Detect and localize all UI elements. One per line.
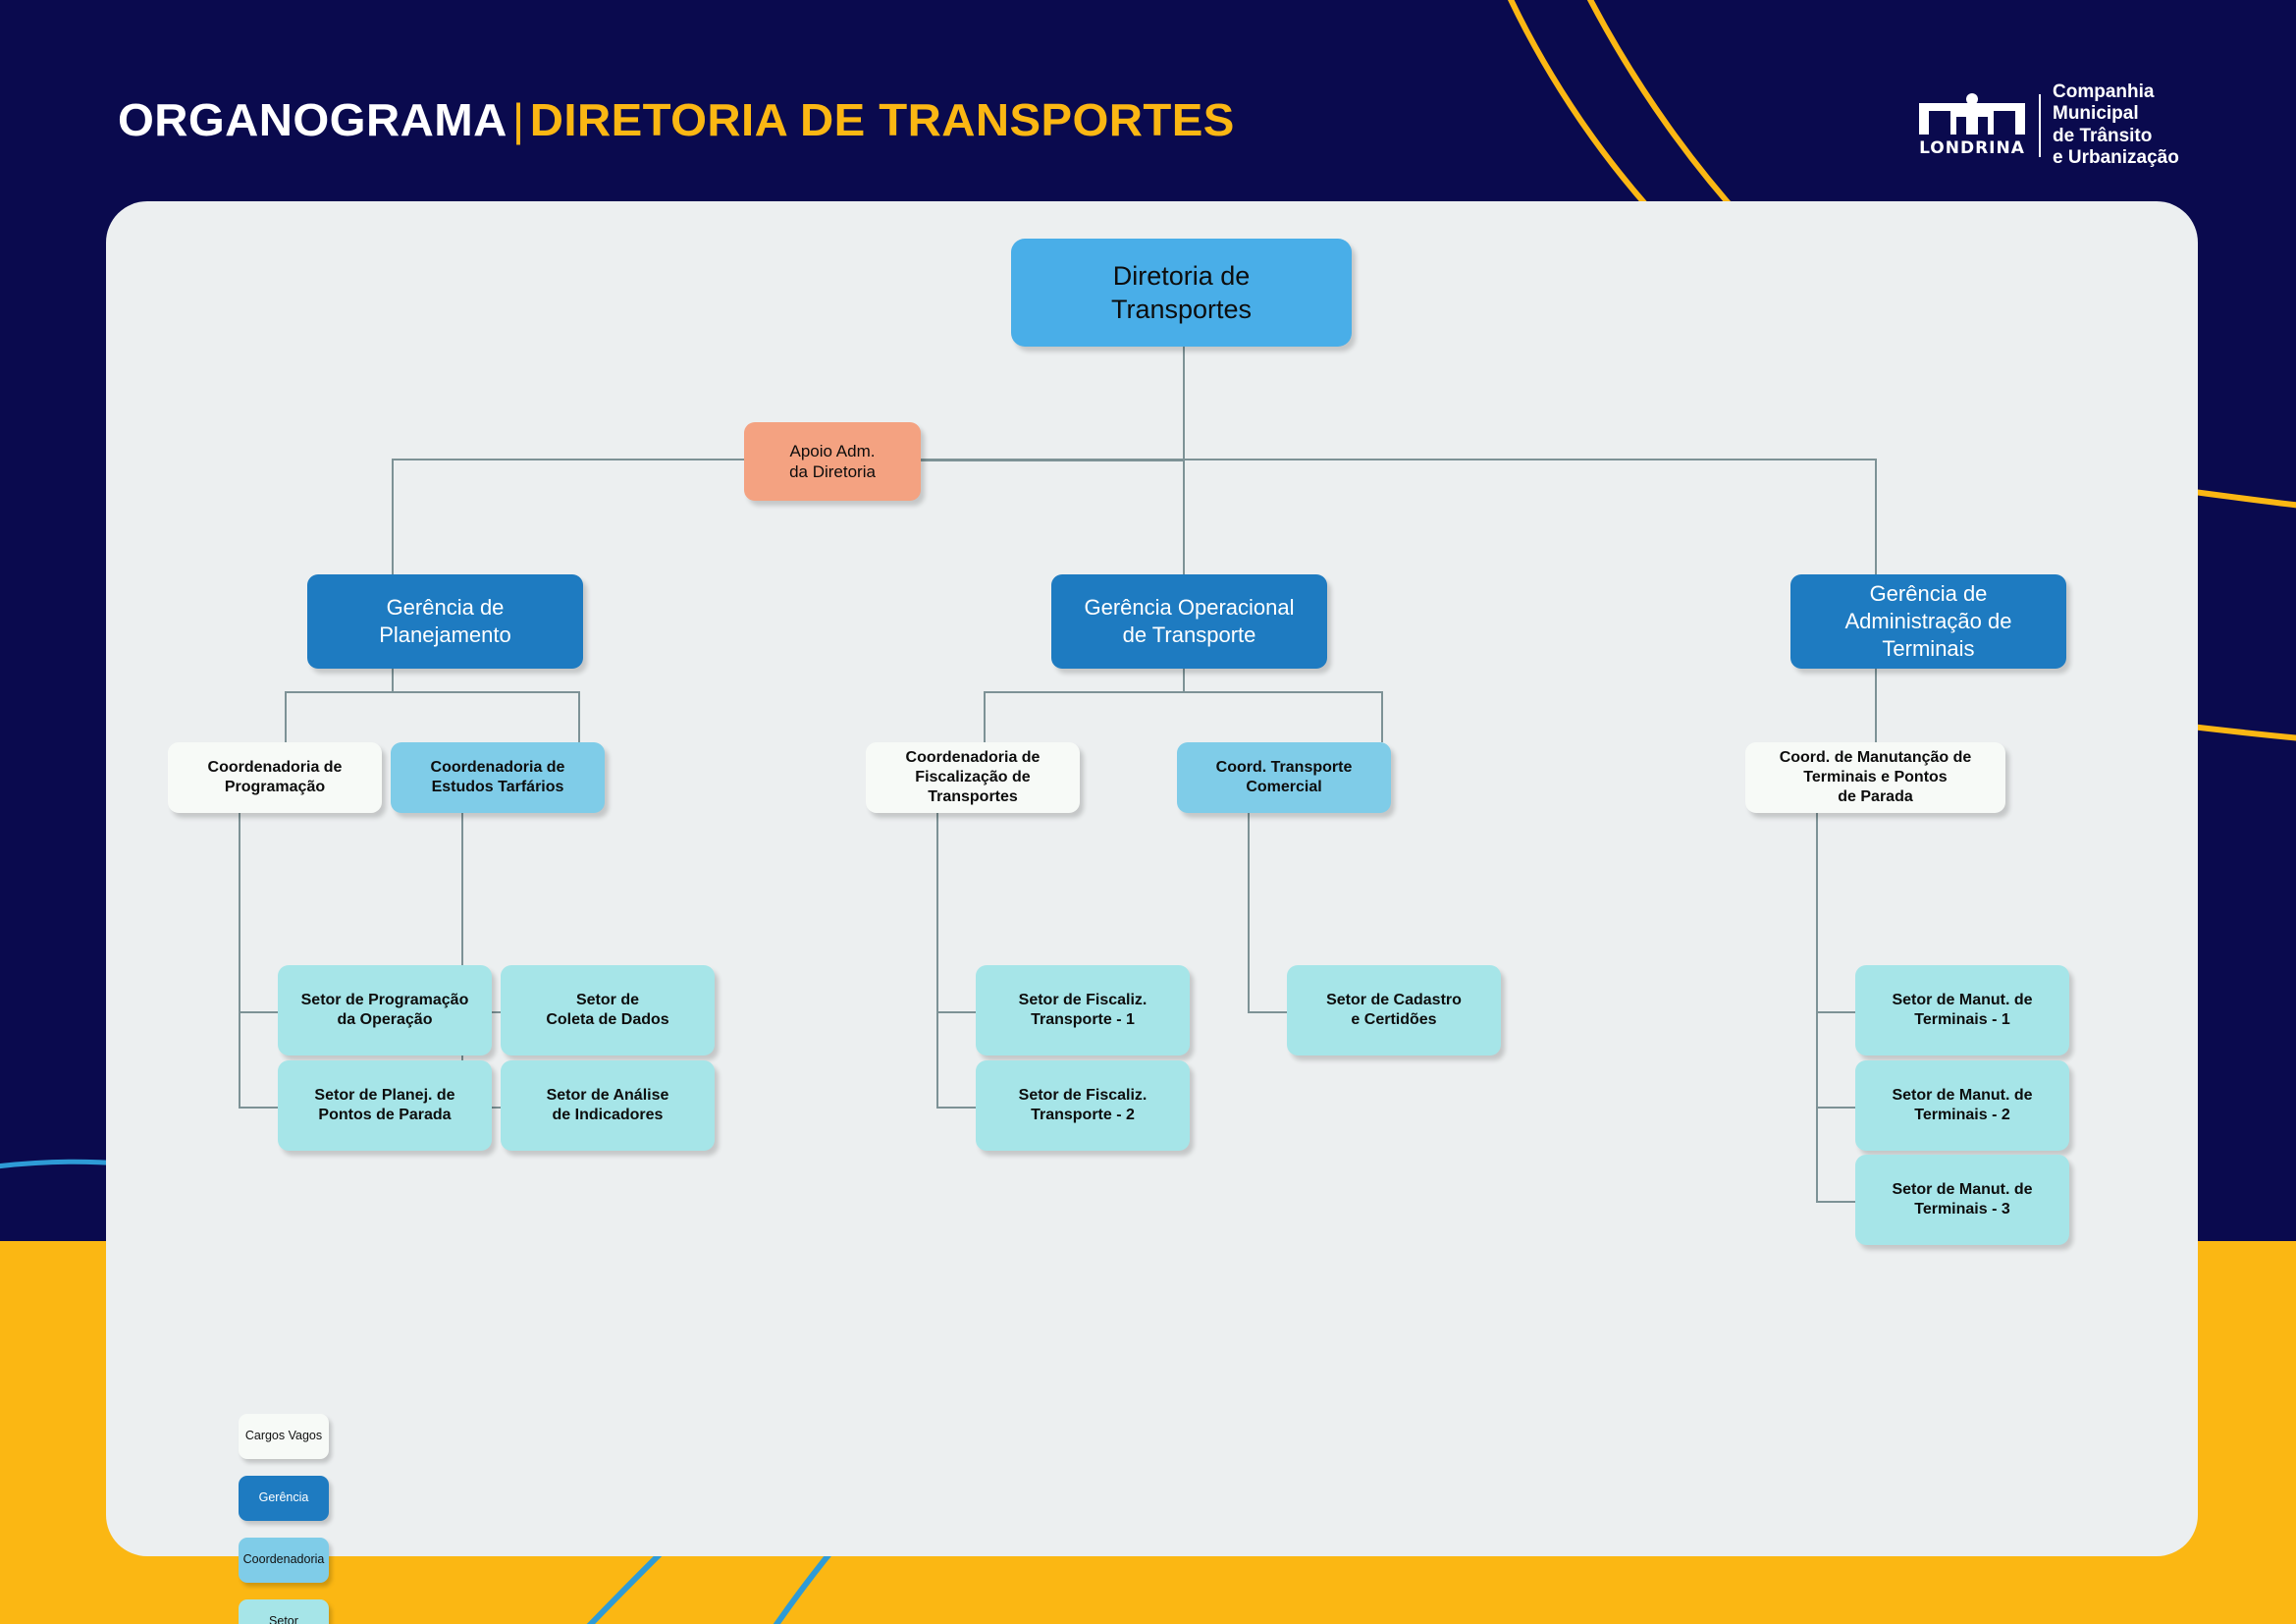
page-header: ORGANOGRAMA|DIRETORIA DE TRANSPORTES LON… xyxy=(0,0,2296,196)
logo-symbol: LONDRINA xyxy=(1917,93,2027,158)
node-s9-line-2: Terminais - 2 xyxy=(1914,1107,2010,1123)
node-setor-de-programacao-da-operacao[interactable]: Setor de Programação da Operação xyxy=(278,965,492,1056)
connector-c5-s9 xyxy=(1816,1107,1855,1109)
logo-company-name: Companhia Municipal de Trânsito e Urbani… xyxy=(2053,81,2179,170)
title-main: ORGANOGRAMA xyxy=(118,94,507,145)
title-separator: | xyxy=(507,94,530,145)
node-s5-line-2: Transporte - 1 xyxy=(1031,1011,1135,1028)
connector-c1-s2 xyxy=(239,1107,278,1109)
node-c5-line-2: Terminais e Pontos xyxy=(1803,769,1947,785)
node-s10-line-2: Terminais - 3 xyxy=(1914,1201,2010,1218)
node-c3-line-1: Coordenadoria de xyxy=(906,749,1041,766)
cmtu-logo: LONDRINA Companhia Municipal de Trânsito… xyxy=(1917,81,2179,170)
node-coordenadoria-de-estudos-tarfarios[interactable]: Coordenadoria de Estudos Tarfários xyxy=(391,742,605,813)
connector-c5-s8 xyxy=(1816,1011,1855,1013)
logo-line-1: Companhia xyxy=(2053,81,2179,103)
node-coordenadoria-de-fiscalizacao-de-transportes[interactable]: Coordenadoria de Fiscalização de Transpo… xyxy=(866,742,1080,813)
org-chart-panel: Diretoria de Transportes Apoio Adm. da D… xyxy=(106,201,2198,1556)
node-s8-line-1: Setor de Manut. de xyxy=(1892,992,2032,1008)
node-s6-line-2: Transporte - 2 xyxy=(1031,1107,1135,1123)
connector-c5-stem xyxy=(1816,799,1818,1203)
node-s2-line-1: Setor de Planej. de xyxy=(314,1087,454,1104)
node-g2-line-2: de Transporte xyxy=(1123,623,1256,647)
node-g2-line-1: Gerência Operacional xyxy=(1084,595,1294,620)
connector-g2-bus xyxy=(984,691,1382,693)
connector-g1-bus xyxy=(285,691,579,693)
node-setor-de-analise-de-indicadores[interactable]: Setor de Análise de Indicadores xyxy=(501,1060,715,1151)
node-setor-de-cadastro-e-certidoes[interactable]: Setor de Cadastro e Certidões xyxy=(1287,965,1501,1056)
connector-c1-s1 xyxy=(239,1011,278,1013)
logo-divider xyxy=(2039,94,2041,157)
node-s5-line-1: Setor de Fiscaliz. xyxy=(1019,992,1148,1008)
node-apoio-adm-da-diretoria[interactable]: Apoio Adm. da Diretoria xyxy=(744,422,921,501)
node-setor-de-fiscaliz-transporte-1[interactable]: Setor de Fiscaliz. Transporte - 1 xyxy=(976,965,1190,1056)
legend-label-gerencia: Gerência xyxy=(259,1491,309,1505)
node-s9-line-1: Setor de Manut. de xyxy=(1892,1087,2032,1104)
connector-gerencia-bus xyxy=(392,459,1877,460)
legend-item-gerencia[interactable]: Gerência xyxy=(239,1476,329,1521)
node-s2-line-2: Pontos de Parada xyxy=(318,1107,451,1123)
logo-line-2: Municipal xyxy=(2053,103,2179,125)
londrina-emblem-icon xyxy=(1917,93,2027,136)
node-gerencia-de-planejamento[interactable]: Gerência de Planejamento xyxy=(307,574,583,669)
node-setor-de-manut-de-terminais-3[interactable]: Setor de Manut. de Terminais - 3 xyxy=(1855,1155,2069,1245)
node-c2-line-2: Estudos Tarfários xyxy=(432,779,564,795)
node-setor-de-manut-de-terminais-1[interactable]: Setor de Manut. de Terminais - 1 xyxy=(1855,965,2069,1056)
connector-g3-drop xyxy=(1875,459,1877,575)
node-g1-line-2: Planejamento xyxy=(379,623,511,647)
connector-c2-drop xyxy=(578,691,580,742)
connector-c3-drop xyxy=(984,691,986,742)
node-s4-line-1: Setor de Análise xyxy=(547,1087,669,1104)
node-s4-line-2: de Indicadores xyxy=(553,1107,664,1123)
connector-c1-stem xyxy=(239,799,240,1109)
logo-line-3: de Trânsito xyxy=(2053,126,2179,147)
node-s1-line-1: Setor de Programação xyxy=(301,992,469,1008)
legend-label-setor: Setor xyxy=(269,1615,298,1624)
node-gerencia-operacional-de-transporte[interactable]: Gerência Operacional de Transporte xyxy=(1051,574,1327,669)
node-c5-line-3: de Parada xyxy=(1838,788,1912,805)
node-s6-line-1: Setor de Fiscaliz. xyxy=(1019,1087,1148,1104)
node-s8-line-2: Terminais - 1 xyxy=(1914,1011,2010,1028)
connector-c4-drop xyxy=(1381,691,1383,742)
node-c1-line-2: Programação xyxy=(225,779,325,795)
node-c1-line-1: Coordenadoria de xyxy=(208,759,343,776)
connector-c5-s10 xyxy=(1816,1201,1855,1203)
node-g1-line-1: Gerência de xyxy=(387,595,505,620)
legend-item-coordenadoria[interactable]: Coordenadoria xyxy=(239,1538,329,1583)
node-s7-line-1: Setor de Cadastro xyxy=(1326,992,1462,1008)
title-sub: DIRETORIA DE TRANSPORTES xyxy=(530,94,1235,145)
connector-c1-drop xyxy=(285,691,287,742)
connector-c3-s5 xyxy=(936,1011,976,1013)
legend-label-cargos-vagos: Cargos Vagos xyxy=(245,1430,322,1443)
page-title: ORGANOGRAMA|DIRETORIA DE TRANSPORTES xyxy=(118,93,1235,146)
connector-c3-stem xyxy=(936,799,938,1109)
node-root-line-1: Diretoria de xyxy=(1113,261,1251,291)
logo-wordmark: LONDRINA xyxy=(1919,138,2025,158)
node-setor-de-manut-de-terminais-2[interactable]: Setor de Manut. de Terminais - 2 xyxy=(1855,1060,2069,1151)
node-g3-line-3: Terminais xyxy=(1882,636,1974,661)
node-setor-de-fiscaliz-transporte-2[interactable]: Setor de Fiscaliz. Transporte - 2 xyxy=(976,1060,1190,1151)
node-root-line-2: Transportes xyxy=(1111,295,1252,324)
node-diretoria-de-transportes[interactable]: Diretoria de Transportes xyxy=(1011,239,1352,347)
connector-c4-stem xyxy=(1248,799,1250,1013)
node-c4-line-1: Coord. Transporte xyxy=(1216,759,1353,776)
node-setor-de-planej-de-pontos-de-parada[interactable]: Setor de Planej. de Pontos de Parada xyxy=(278,1060,492,1151)
node-s3-line-2: Coleta de Dados xyxy=(546,1011,668,1028)
node-coord-transporte-comercial[interactable]: Coord. Transporte Comercial xyxy=(1177,742,1391,813)
node-s1-line-2: da Operação xyxy=(338,1011,433,1028)
connector-c4-s7 xyxy=(1248,1011,1287,1013)
node-apoio-line-2: da Diretoria xyxy=(789,462,876,481)
connector-c3-s6 xyxy=(936,1107,976,1109)
node-c2-line-1: Coordenadoria de xyxy=(431,759,565,776)
node-c5-line-1: Coord. de Manutanção de xyxy=(1780,749,1972,766)
legend-label-coordenadoria: Coordenadoria xyxy=(243,1553,325,1567)
connector-g1-drop xyxy=(392,459,394,575)
node-c3-line-3: Transportes xyxy=(928,788,1018,805)
node-coordenadoria-de-programacao[interactable]: Coordenadoria de Programação xyxy=(168,742,382,813)
node-gerencia-de-administracao-de-terminais[interactable]: Gerência de Administração de Terminais xyxy=(1790,574,2066,669)
logo-line-4: e Urbanização xyxy=(2053,147,2179,169)
node-s10-line-1: Setor de Manut. de xyxy=(1892,1181,2032,1198)
legend-item-cargos-vagos[interactable]: Cargos Vagos xyxy=(239,1414,329,1459)
node-s7-line-2: e Certidões xyxy=(1351,1011,1436,1028)
node-g3-line-2: Administração de xyxy=(1845,609,2012,633)
legend-item-setor[interactable]: Setor xyxy=(239,1599,329,1624)
node-g3-line-1: Gerência de xyxy=(1870,581,1988,606)
legend: Cargos Vagos Gerência Coordenadoria Seto… xyxy=(239,1414,329,1624)
node-c4-line-2: Comercial xyxy=(1246,779,1321,795)
node-apoio-line-1: Apoio Adm. xyxy=(790,442,876,460)
node-c3-line-2: Fiscalização de xyxy=(915,769,1030,785)
node-setor-de-coleta-de-dados[interactable]: Setor de Coleta de Dados xyxy=(501,965,715,1056)
node-coord-de-manutancao-de-terminais-e-pontos-de-parada[interactable]: Coord. de Manutanção de Terminais e Pont… xyxy=(1745,742,2005,813)
node-s3-line-1: Setor de xyxy=(576,992,639,1008)
